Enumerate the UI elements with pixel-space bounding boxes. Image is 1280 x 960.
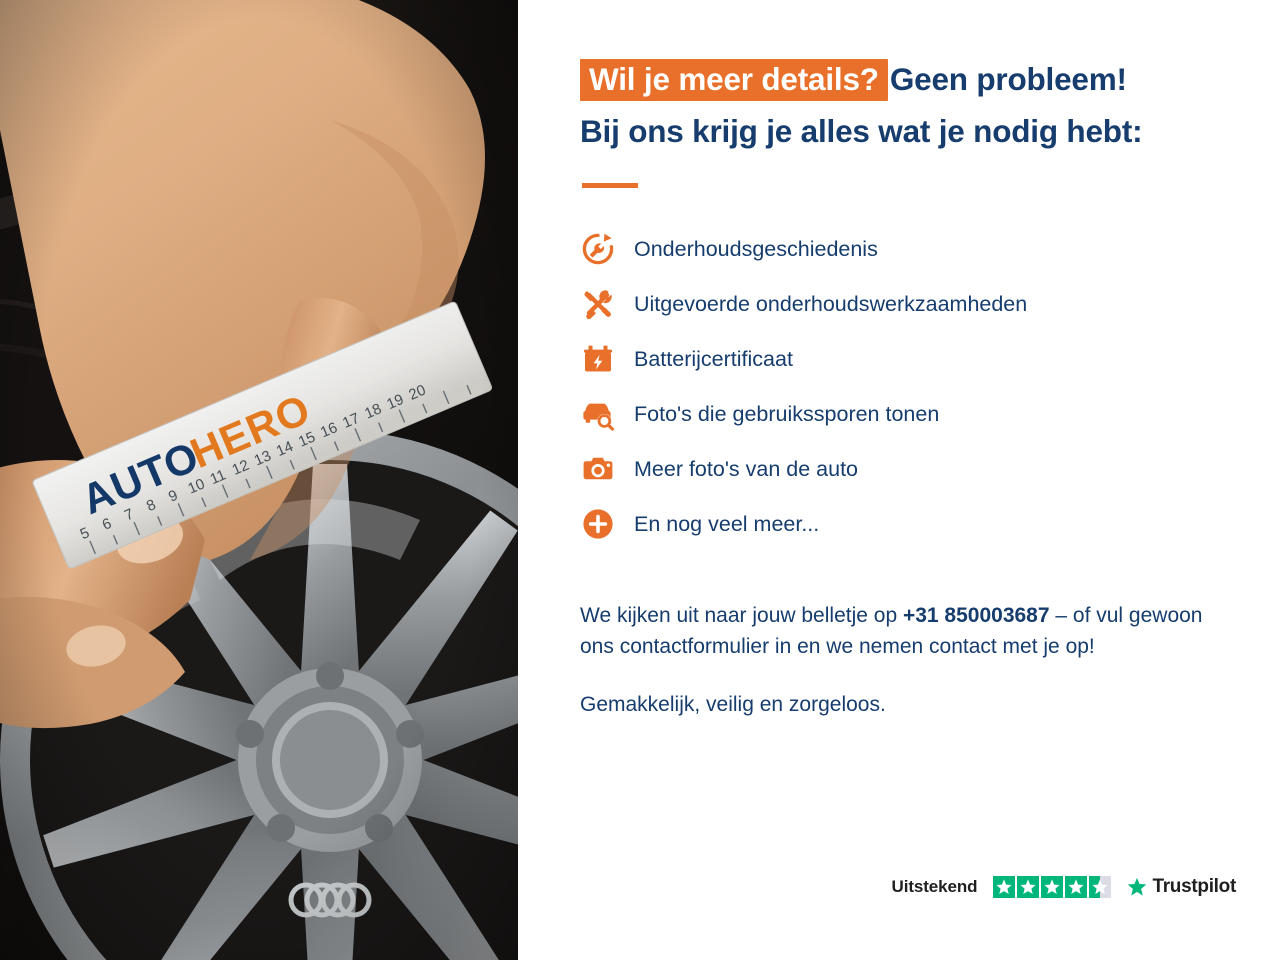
feature-item-battery-certificate: Batterijcertificaat — [580, 332, 1236, 387]
star-icon — [1065, 876, 1087, 898]
feature-label: Onderhoudsgeschiedenis — [634, 237, 878, 263]
reassurance-paragraph: Gemakkelijk, veilig en zorgeloos. — [580, 689, 1236, 721]
half-star-icon — [1089, 876, 1111, 898]
accent-divider — [582, 183, 638, 188]
trustpilot-rating[interactable]: Uitstekend Trustp — [892, 876, 1236, 898]
feature-label: En nog veel meer... — [634, 512, 819, 538]
headline-line2: Bij ons krijg je alles wat je nodig hebt… — [580, 110, 1236, 153]
promo-panel: AUTO HERO — [0, 0, 1280, 960]
feature-item-more: En nog veel meer... — [580, 497, 1236, 552]
contact-paragraph: We kijken uit naar jouw belletje op +31 … — [580, 600, 1236, 663]
headline-highlight: Wil je meer details? — [580, 59, 888, 101]
plus-circle-icon — [580, 506, 616, 542]
content-column: Wil je meer details?Geen probleem! Bij o… — [518, 0, 1280, 960]
trustpilot-stars — [993, 876, 1111, 898]
trustpilot-brand: Trustpilot — [1127, 876, 1236, 898]
star-icon — [1017, 876, 1039, 898]
trustpilot-star-icon — [1127, 877, 1147, 897]
feature-item-wear-photos: Foto's die gebruikssporen tonen — [580, 387, 1236, 442]
trustpilot-brand-name: Trustpilot — [1152, 876, 1236, 898]
hero-photo: AUTO HERO — [0, 0, 518, 960]
contact-copy: We kijken uit naar jouw belletje op +31 … — [580, 600, 1236, 721]
star-icon — [993, 876, 1015, 898]
camera-icon — [580, 451, 616, 487]
headline-rest: Geen probleem! — [890, 61, 1127, 97]
feature-list: Onderhoudsgeschiedenis Uitgev — [580, 222, 1236, 552]
feature-label: Batterijcertificaat — [634, 347, 793, 373]
trustpilot-rating-word: Uitstekend — [892, 877, 978, 897]
maintenance-history-icon — [580, 231, 616, 267]
phone-number[interactable]: +31 850003687 — [903, 604, 1050, 627]
page-title: Wil je meer details?Geen probleem! Bij o… — [580, 58, 1236, 153]
star-icon — [1041, 876, 1063, 898]
contact-text-before: We kijken uit naar jouw belletje op — [580, 604, 903, 627]
tools-icon — [580, 286, 616, 322]
feature-item-maintenance-history: Onderhoudsgeschiedenis — [580, 222, 1236, 277]
battery-icon — [580, 341, 616, 377]
feature-item-maintenance-work: Uitgevoerde onderhoudswerkzaamheden — [580, 277, 1236, 332]
car-inspection-icon — [580, 396, 616, 432]
feature-label: Foto's die gebruikssporen tonen — [634, 402, 939, 428]
feature-label: Uitgevoerde onderhoudswerkzaamheden — [634, 292, 1027, 318]
feature-item-more-photos: Meer foto's van de auto — [580, 442, 1236, 497]
feature-label: Meer foto's van de auto — [634, 457, 858, 483]
